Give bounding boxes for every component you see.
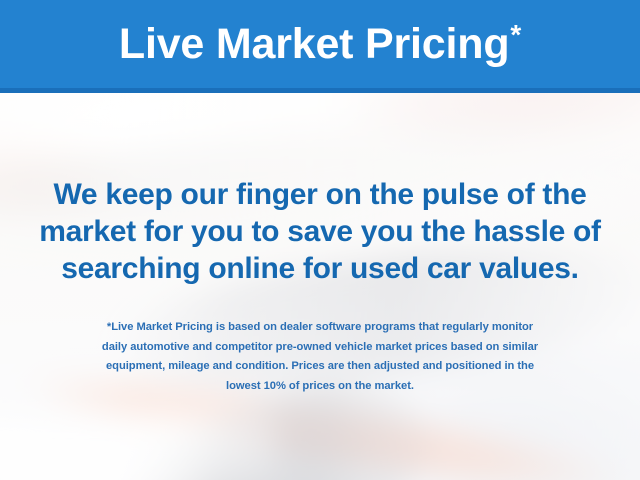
header-bottom-rule [0,88,640,93]
disclaimer-line-2: daily automotive and competitor pre-owne… [0,338,640,358]
live-market-pricing-banner: Live Market Pricing* We keep our finger … [0,0,640,480]
disclaimer-line-1: *Live Market Pricing is based on dealer … [0,318,640,338]
disclaimer-line-3: equipment, mileage and condition. Prices… [0,357,640,377]
disclaimer: *Live Market Pricing is based on dealer … [0,318,640,396]
headline-line-3: searching online for used car values. [0,250,640,287]
page-title: Live Market Pricing* [0,0,640,88]
headline-line-2: market for you to save you the hassle of [0,213,640,250]
disclaimer-line-4: lowest 10% of prices on the market. [0,377,640,397]
headline: We keep our finger on the pulse of the m… [0,176,640,287]
headline-line-1: We keep our finger on the pulse of the [0,176,640,213]
page-title-text: Live Market Pricing [119,20,510,69]
